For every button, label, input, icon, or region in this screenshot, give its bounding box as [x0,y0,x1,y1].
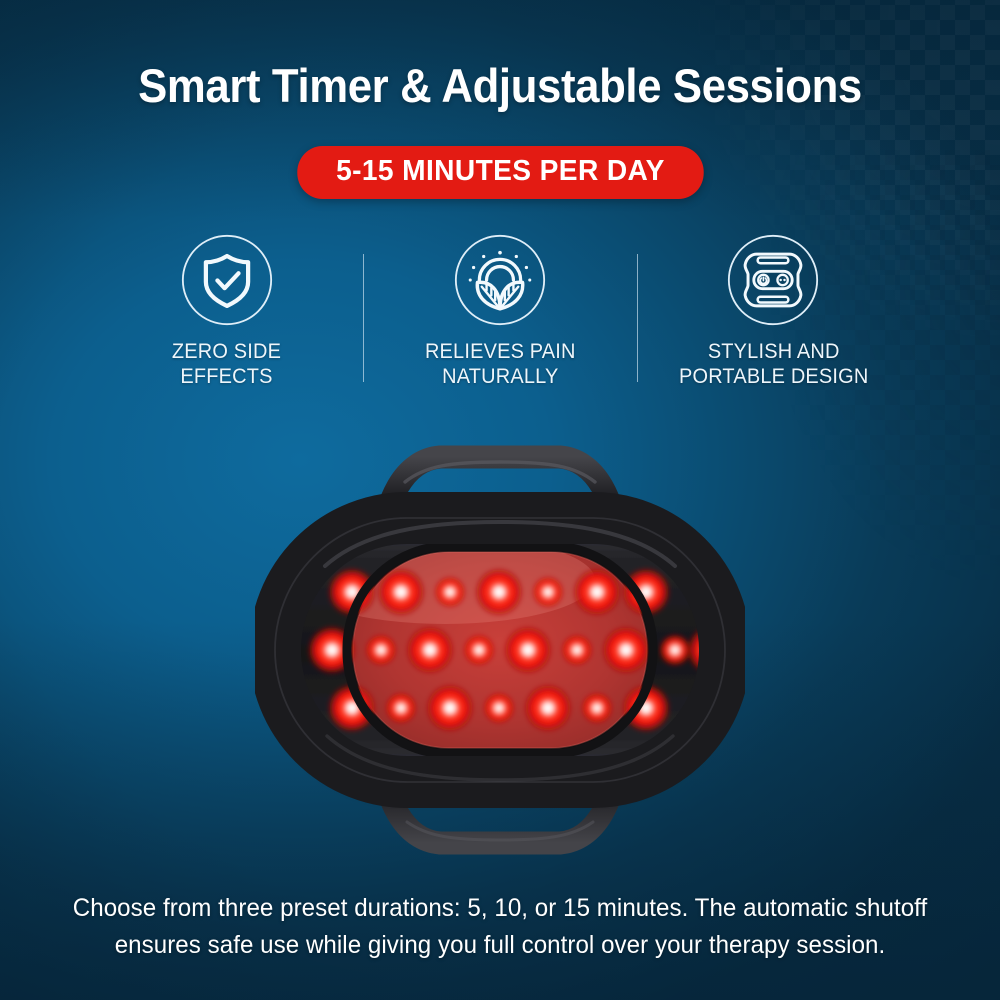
feature-label: STYLISH AND PORTABLE DESIGN [679,339,868,389]
feature-label: ZERO SIDE EFFECTS [172,339,281,389]
feature-label: RELIEVES PAIN NATURALLY [425,339,576,389]
page-title: Smart Timer & Adjustable Sessions [35,58,965,113]
product-image [255,440,745,860]
feature-relieves-pain-naturally: RELIEVES PAIN NATURALLY [363,232,636,389]
feature-stylish-portable-design: STYLISH AND PORTABLE DESIGN [637,232,910,389]
feature-list: ZERO SIDE EFFECTS [90,232,910,407]
shield-check-icon [179,232,275,328]
badge-container: 5-15 MINUTES PER DAY [0,146,1000,199]
feature-zero-side-effects: ZERO SIDE EFFECTS [90,232,363,389]
marketing-banner: Smart Timer & Adjustable Sessions 5-15 M… [0,0,1000,1000]
leaf-sunrise-icon [452,232,548,328]
duration-badge: 5-15 MINUTES PER DAY [297,146,703,199]
device-outline-icon [725,232,821,328]
description-text: Choose from three preset durations: 5, 1… [51,890,948,964]
red-light-therapy-device [255,440,745,860]
led-row-1 [376,567,622,617]
